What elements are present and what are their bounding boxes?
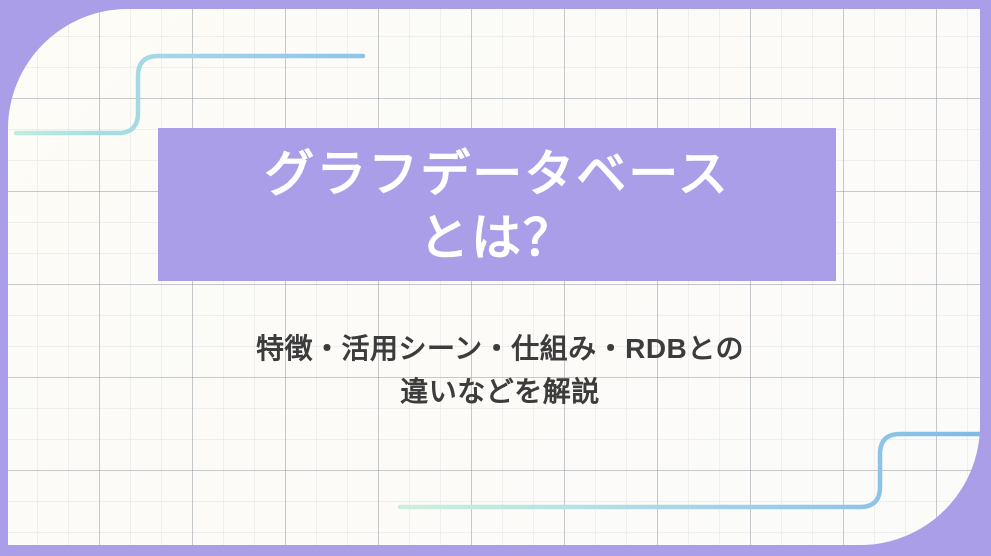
- subtitle-line-1: 特徴・活用シーン・仕組み・RDBとの: [100, 327, 900, 370]
- title-line-2: とは？: [419, 206, 575, 270]
- slide-canvas: グラフデータベース とは？ 特徴・活用シーン・仕組み・RDBとの 違いなどを解説: [0, 0, 991, 556]
- title-line-1: グラフデータベース: [264, 142, 730, 206]
- subtitle-block: 特徴・活用シーン・仕組み・RDBとの 違いなどを解説: [100, 327, 900, 414]
- title-banner: グラフデータベース とは？: [158, 128, 836, 281]
- subtitle-line-2: 違いなどを解説: [100, 370, 900, 413]
